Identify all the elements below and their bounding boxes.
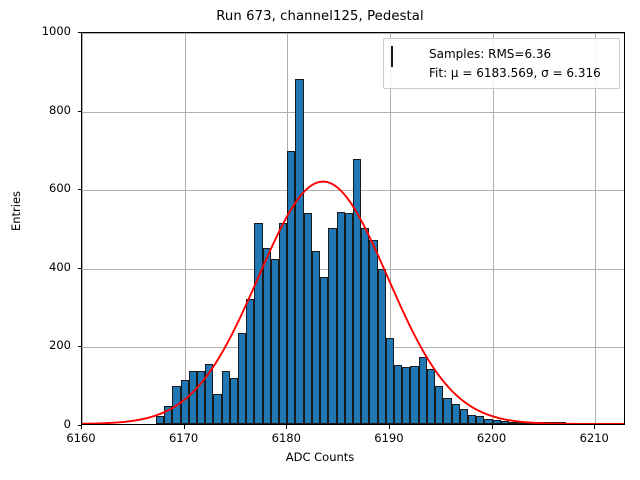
histogram-bar (525, 422, 533, 424)
histogram-bar (238, 333, 246, 424)
legend-item-fit[interactable]: Fit: μ = 6183.569, σ = 6.316 (391, 63, 612, 82)
histogram-bar (164, 406, 172, 424)
histogram-bar (213, 394, 221, 424)
x-tick (594, 425, 595, 429)
histogram-bar (419, 357, 427, 424)
legend-label-samples: Samples: RMS=6.36 (429, 47, 551, 61)
x-tick (492, 425, 493, 429)
histogram-bar (181, 380, 189, 424)
gridline-vertical (185, 33, 186, 424)
gridline-vertical (595, 33, 596, 424)
histogram-bar (550, 422, 558, 424)
page-title: Run 673, channel125, Pedestal (0, 9, 640, 24)
histogram-bar (402, 367, 410, 424)
y-tick-label: 0 (0, 417, 71, 431)
x-tick (389, 425, 390, 429)
histogram-bar (452, 404, 460, 424)
histogram-bar (304, 213, 312, 424)
histogram-bar (427, 369, 435, 424)
legend-item-samples[interactable]: Samples: RMS=6.36 (391, 44, 612, 63)
histogram-bar (484, 419, 492, 425)
figure-canvas: Run 673, channel125, Pedestal 6160617061… (0, 0, 640, 480)
x-tick-label: 6210 (564, 431, 624, 445)
y-tick (78, 425, 82, 426)
histogram-bar (534, 422, 542, 424)
histogram-bar (386, 338, 394, 424)
histogram-bar (271, 259, 279, 424)
histogram-bar (156, 416, 164, 424)
histogram-bar (246, 299, 254, 424)
histogram-bar (369, 240, 377, 424)
x-tick-label: 6200 (462, 431, 522, 445)
histogram-bar (460, 409, 468, 424)
histogram-bar (509, 422, 517, 424)
x-tick (81, 425, 82, 429)
plot-area[interactable] (81, 32, 625, 425)
y-tick (78, 189, 82, 190)
histogram-bar (263, 248, 271, 424)
histogram-bar (345, 213, 353, 424)
x-tick (286, 425, 287, 429)
histogram-bar (197, 371, 205, 424)
histogram-bar (337, 212, 345, 424)
gridline-horizontal (82, 33, 624, 34)
legend-line-icon (391, 66, 421, 80)
histogram-bar (493, 420, 501, 424)
histogram-bar (476, 416, 484, 424)
y-axis-label: Entries (9, 121, 23, 301)
histogram-bar (501, 421, 509, 424)
x-axis-label: ADC Counts (0, 450, 640, 464)
gridline-vertical (82, 33, 83, 424)
histogram-bar (320, 277, 328, 424)
histogram-bar (287, 151, 295, 424)
histogram-bar (189, 371, 197, 424)
x-tick (184, 425, 185, 429)
histogram-bar (328, 228, 336, 425)
y-tick (78, 111, 82, 112)
y-tick (78, 346, 82, 347)
histogram-bar (558, 422, 566, 424)
x-tick-label: 6180 (256, 431, 316, 445)
histogram-bar (394, 365, 402, 424)
x-tick-label: 6170 (154, 431, 214, 445)
histogram-bar (205, 364, 213, 424)
histogram-bar (468, 415, 476, 424)
histogram-bar (361, 228, 369, 425)
legend-label-fit: Fit: μ = 6183.569, σ = 6.316 (429, 66, 601, 80)
x-tick-label: 6160 (51, 431, 111, 445)
y-tick-label: 800 (0, 103, 71, 117)
y-tick-label: 1000 (0, 24, 71, 38)
histogram-bar (230, 378, 238, 424)
histogram-bar (172, 386, 180, 424)
gridline-vertical (493, 33, 494, 424)
histogram-bar (517, 422, 525, 424)
histogram-bar (435, 386, 443, 424)
legend-patch-icon (391, 47, 421, 61)
gridline-horizontal (82, 112, 624, 113)
histogram-bar (279, 223, 287, 424)
histogram-bar (353, 159, 361, 424)
histogram-bar (254, 223, 262, 424)
histogram-bar (410, 366, 418, 424)
histogram-bar (222, 371, 230, 424)
histogram-bar (295, 79, 303, 424)
histogram-bar (312, 251, 320, 424)
histogram-bar (443, 398, 451, 424)
histogram-bar (378, 269, 386, 424)
x-tick-label: 6190 (359, 431, 419, 445)
y-tick (78, 32, 82, 33)
y-tick (78, 268, 82, 269)
y-tick-label: 200 (0, 338, 71, 352)
legend[interactable]: Samples: RMS=6.36 Fit: μ = 6183.569, σ =… (383, 38, 620, 89)
histogram-bar (542, 422, 550, 424)
